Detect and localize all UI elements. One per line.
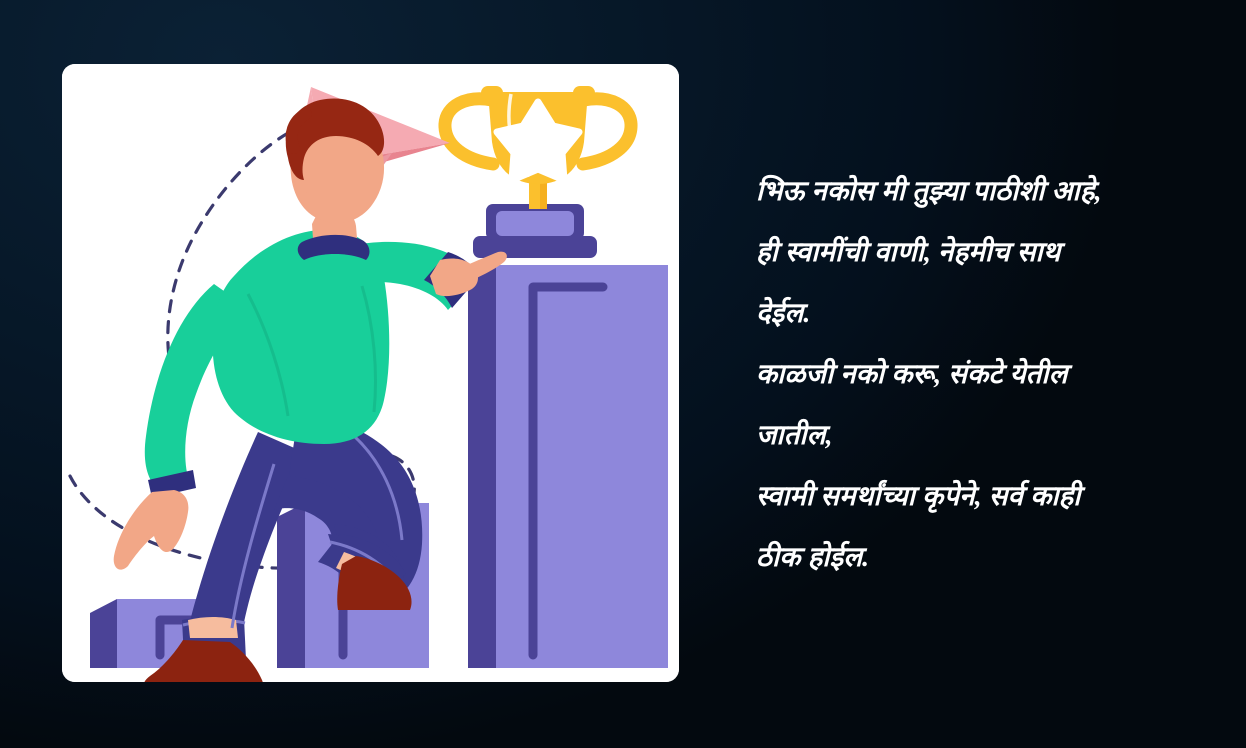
- man-back-ankle: [188, 617, 238, 638]
- quote-panel: भिऊ नकोस मी तुझ्या पाठीशी आहे, ही स्वामी…: [756, 160, 1204, 587]
- quote-line-3: देईल.: [756, 282, 1204, 343]
- quote-line-4: काळजी नको करू, संकटे येतील: [756, 343, 1204, 404]
- pedestal-face: [496, 211, 574, 236]
- quote-line-2: ही स्वामींची वाणी, नेहमीच साथ: [756, 221, 1204, 282]
- bar-step-3-side: [468, 265, 496, 668]
- quote-line-5: जातील,: [756, 404, 1204, 465]
- illustration-svg: [62, 64, 679, 682]
- trophy-rim-left: [481, 86, 503, 100]
- bar-step-3-front: [496, 265, 668, 668]
- trophy-pedestal: [473, 204, 597, 258]
- bar-step-3: [468, 265, 668, 668]
- illustration-card: [62, 64, 679, 682]
- quote-line-6: स्वामी समर्थांच्या कृपेने, सर्व काही: [756, 465, 1204, 526]
- trophy-rim-right: [573, 86, 595, 100]
- bar-step-2-side: [277, 503, 305, 668]
- page-root: भिऊ नकोस मी तुझ्या पाठीशी आहे, ही स्वामी…: [0, 0, 1246, 748]
- quote-line-1: भिऊ नकोस मी तुझ्या पाठीशी आहे,: [756, 160, 1204, 221]
- quote-line-7: ठीक होईल.: [756, 526, 1204, 587]
